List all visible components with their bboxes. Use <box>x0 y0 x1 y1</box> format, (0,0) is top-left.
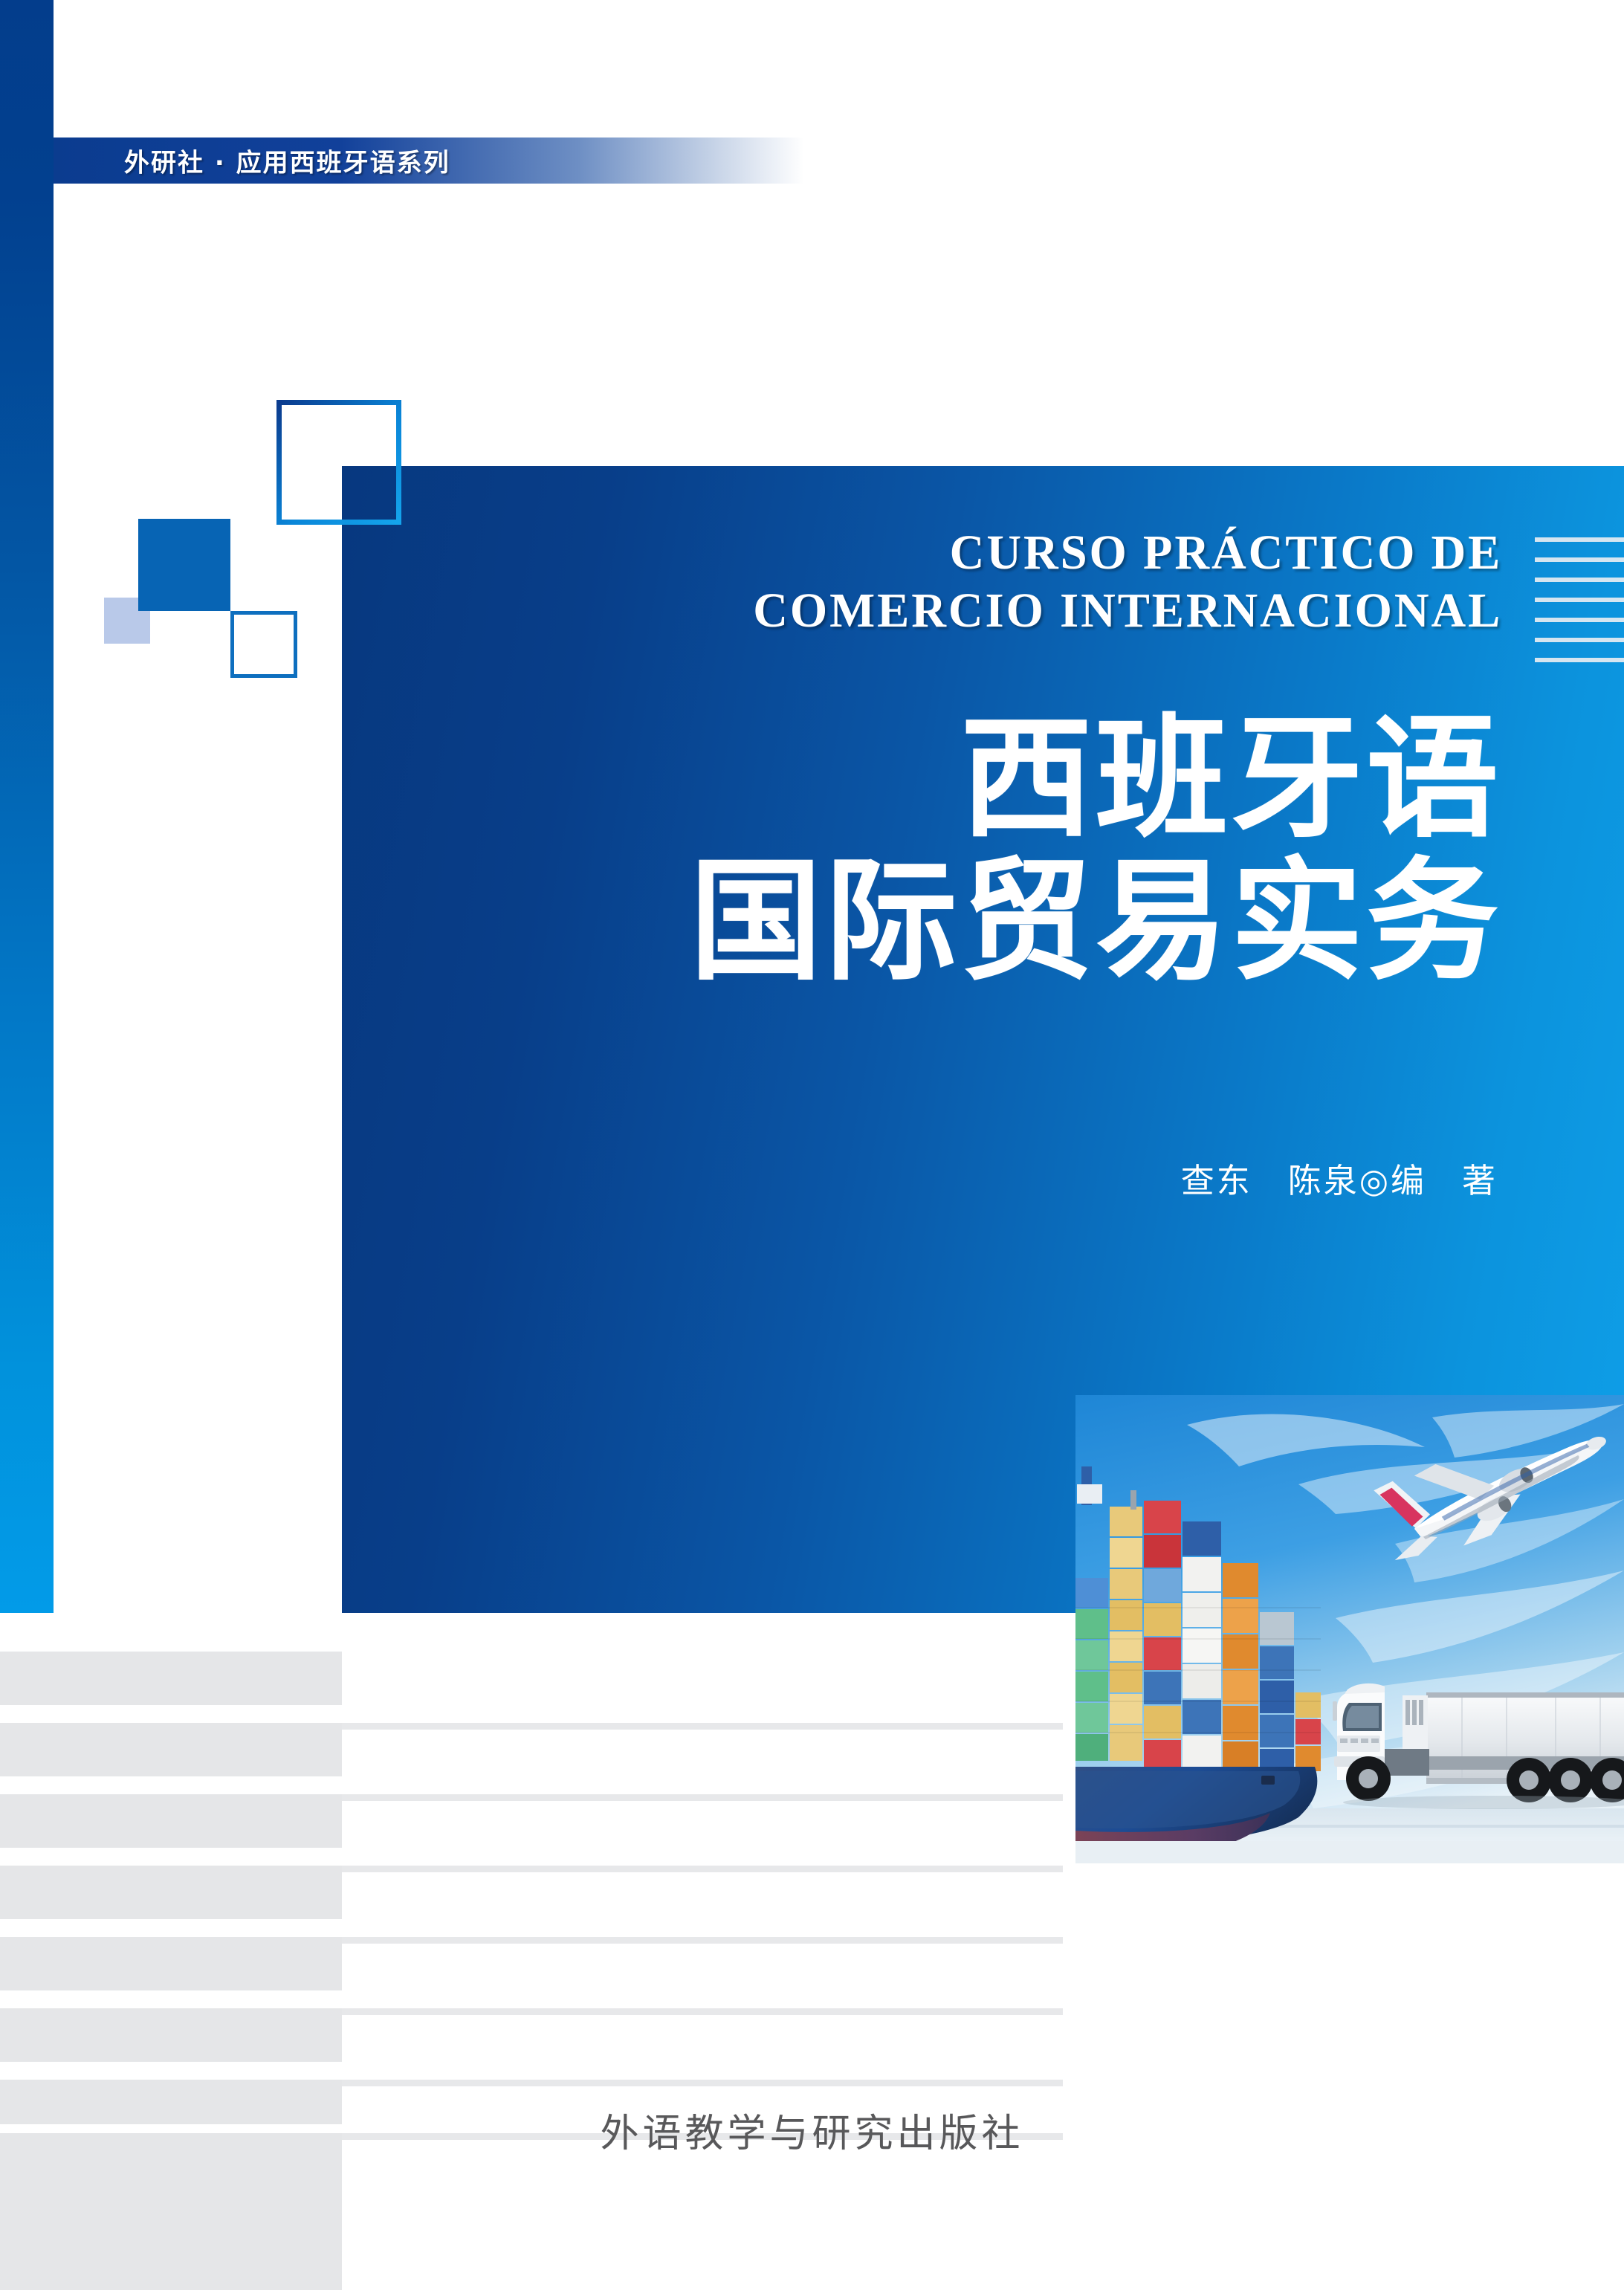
large-outlined-square-decoration <box>276 400 401 525</box>
author-line: 查东 陈泉◎编 著 <box>342 1154 1498 1202</box>
rule-line <box>1535 557 1624 562</box>
gray-stripe <box>0 1723 342 1776</box>
book-cover: 外研社 · 应用西班牙语系列 CURSO PRÁCTICO DE COMERCI… <box>0 0 1624 2290</box>
rule-line <box>1535 578 1624 582</box>
rule-line <box>1535 638 1624 642</box>
gray-stripe <box>0 1794 342 1848</box>
series-label: 外研社 · 应用西班牙语系列 <box>124 143 450 179</box>
chinese-title: 西班牙语 国际贸易实务 <box>342 708 1501 993</box>
gray-stripe <box>0 1866 342 1919</box>
rule-line <box>1535 658 1624 662</box>
gray-stripe <box>0 2008 342 2062</box>
gray-rule <box>342 1723 1063 1730</box>
spanish-title-line2: COMERCIO INTERNACIONAL <box>354 582 1502 640</box>
gray-rule <box>342 1794 1063 1801</box>
rule-line <box>1535 618 1624 622</box>
spanish-title-line1: CURSO PRÁCTICO DE <box>354 524 1502 582</box>
gray-rule <box>342 1937 1063 1944</box>
publisher-name: 外语教学与研究出版社 <box>0 2102 1624 2158</box>
chinese-title-line1: 西班牙语 <box>342 708 1501 850</box>
gray-stripe <box>0 1937 342 1990</box>
solid-blue-square-decoration <box>138 519 230 611</box>
logistics-photo <box>1075 1395 1624 1863</box>
left-accent-band <box>0 0 54 1613</box>
rule-line <box>1535 598 1624 602</box>
spanish-title: CURSO PRÁCTICO DE COMERCIO INTERNACIONAL <box>342 524 1514 640</box>
series-banner: 外研社 · 应用西班牙语系列 <box>54 138 804 184</box>
small-outlined-square-decoration <box>230 611 297 678</box>
rule-lines-decoration <box>1535 537 1624 678</box>
gray-stripe <box>0 1652 342 1705</box>
gray-rule <box>342 1866 1063 1872</box>
logistics-illustration <box>1075 1395 1624 1863</box>
chinese-title-line2: 国际贸易实务 <box>342 850 1501 993</box>
rule-line <box>1535 537 1624 542</box>
gray-rule <box>342 2008 1063 2015</box>
gray-rule <box>342 2080 1063 2086</box>
